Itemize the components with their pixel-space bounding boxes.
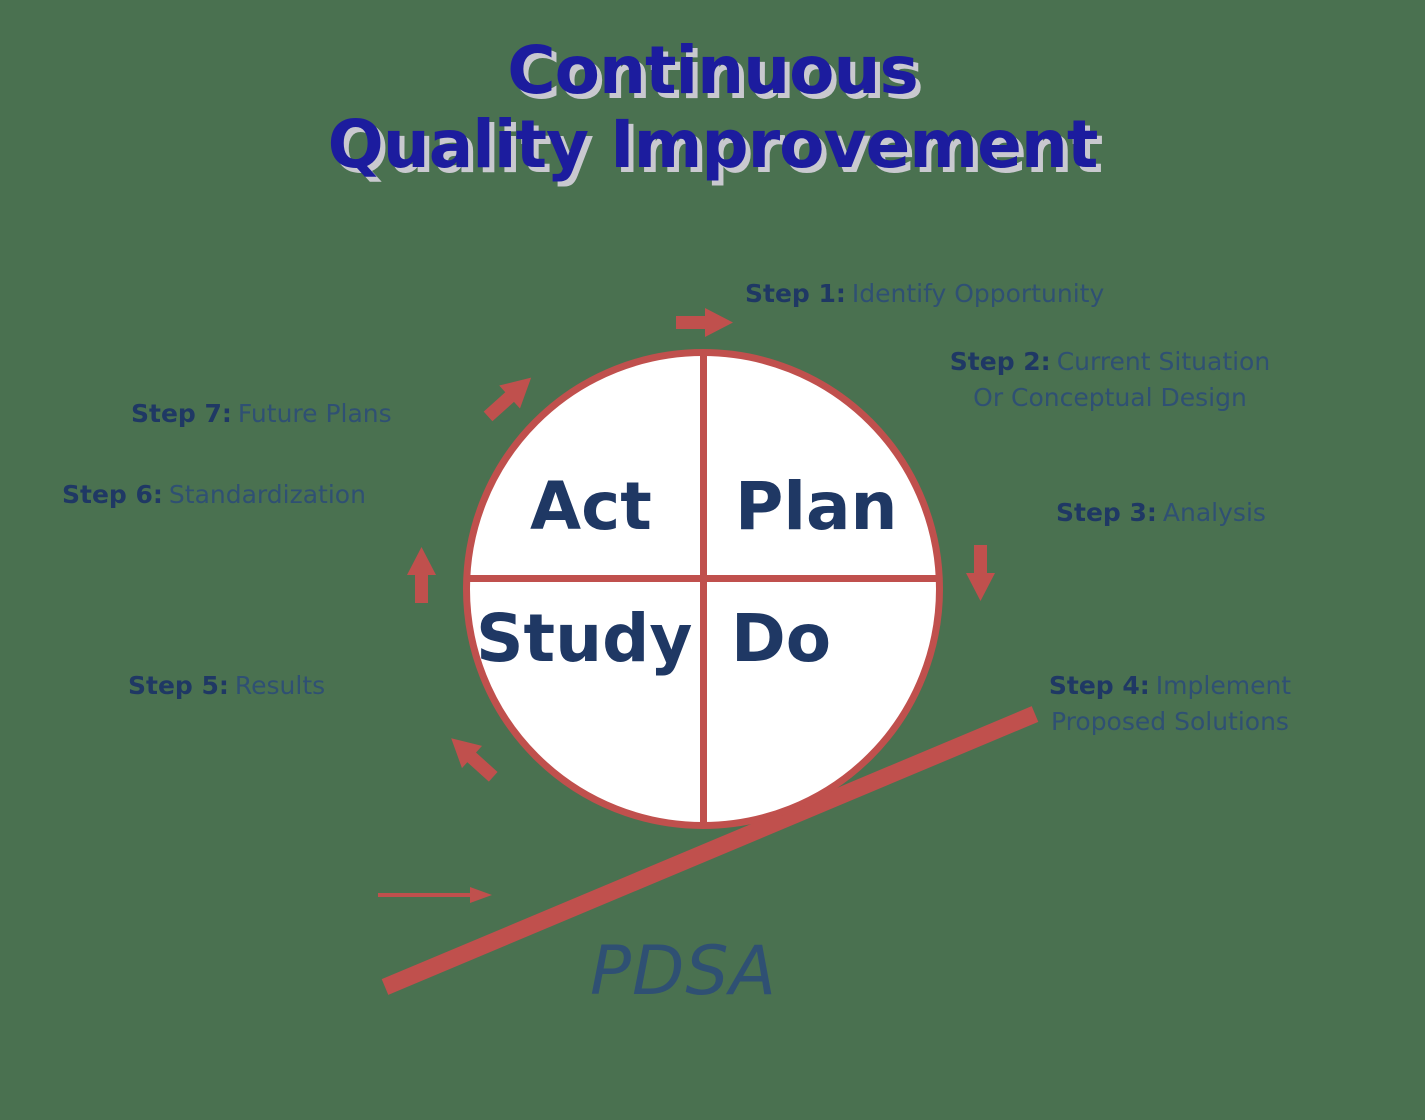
step-4-caption: Step 4:Implement Proposed Solutions bbox=[1010, 668, 1330, 739]
wheel-divider-horizontal bbox=[466, 575, 940, 582]
step-1-number: Step 1: bbox=[745, 279, 846, 308]
page-title: Continuous Quality Improvement bbox=[0, 34, 1425, 182]
step-5-text: Results bbox=[235, 671, 325, 700]
step-2-line-2: Or Conceptual Design bbox=[930, 380, 1290, 416]
title-line-1: Continuous bbox=[0, 34, 1425, 108]
step-5-caption: Step 5:Results bbox=[128, 668, 325, 704]
step-4-number: Step 4: bbox=[1049, 671, 1150, 700]
step-2-caption: Step 2:Current Situation Or Conceptual D… bbox=[930, 344, 1290, 415]
quadrant-label-act: Act bbox=[530, 474, 652, 540]
quadrant-label-do: Do bbox=[731, 606, 831, 672]
title-line-2: Quality Improvement bbox=[0, 108, 1425, 182]
wheel-divider-vertical bbox=[700, 352, 707, 826]
step-6-caption: Step 6:Standardization bbox=[62, 477, 366, 513]
step-7-text: Future Plans bbox=[238, 399, 392, 428]
step-3-text: Analysis bbox=[1163, 498, 1266, 527]
diagram-canvas: Continuous Quality Improvement bbox=[0, 0, 1425, 1120]
step-2-line-1: Step 2:Current Situation bbox=[930, 344, 1290, 380]
step-1-text: Identify Opportunity bbox=[852, 279, 1104, 308]
step-7-caption: Step 7:Future Plans bbox=[131, 396, 392, 432]
arrow-top-icon bbox=[676, 308, 733, 337]
arrow-progress-icon bbox=[378, 887, 492, 903]
step-3-number: Step 3: bbox=[1056, 498, 1157, 527]
arrow-left-icon bbox=[407, 547, 436, 603]
step-4-line-1: Step 4:Implement bbox=[1010, 668, 1330, 704]
step-6-text: Standardization bbox=[169, 480, 366, 509]
step-1-caption: Step 1:Identify Opportunity bbox=[745, 276, 1104, 312]
arrow-right-icon bbox=[966, 545, 995, 601]
step-6-number: Step 6: bbox=[62, 480, 163, 509]
cycle-acronym-label: PDSA bbox=[590, 938, 777, 1006]
step-2-text: Current Situation bbox=[1057, 347, 1271, 376]
step-5-number: Step 5: bbox=[128, 671, 229, 700]
step-4-line-2: Proposed Solutions bbox=[1010, 704, 1330, 740]
step-7-number: Step 7: bbox=[131, 399, 232, 428]
step-3-caption: Step 3:Analysis bbox=[1056, 495, 1266, 531]
step-4-text: Implement bbox=[1156, 671, 1291, 700]
step-2-number: Step 2: bbox=[950, 347, 1051, 376]
quadrant-label-plan: Plan bbox=[735, 474, 898, 540]
quadrant-label-study: Study bbox=[476, 606, 692, 672]
arrow-bottom-left-icon bbox=[441, 727, 503, 787]
